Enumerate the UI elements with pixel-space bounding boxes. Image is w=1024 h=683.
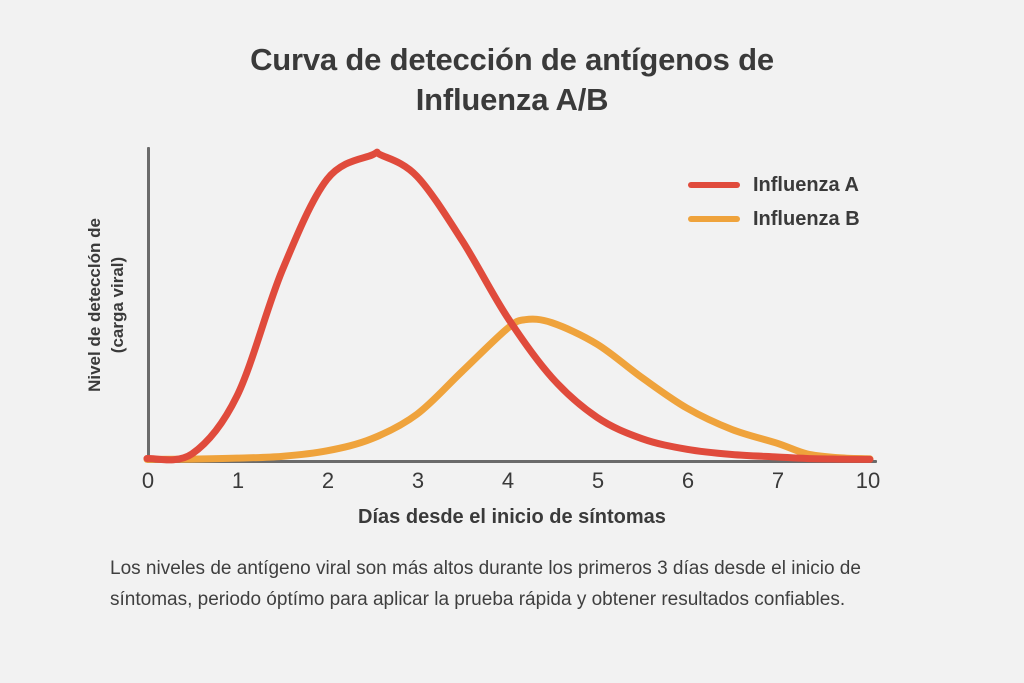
chart-title-line-2: Influenza A/B xyxy=(162,80,862,120)
x-axis-tick-1: 1 xyxy=(218,468,258,494)
y-axis-label-line-1: Nivel de detecclón de xyxy=(84,218,107,392)
x-axis-tick-5: 5 xyxy=(578,468,618,494)
x-axis-tick-3: 3 xyxy=(398,468,438,494)
chart-title-line-1: Curva de detección de antígenos de xyxy=(162,40,862,80)
x-axis-tick-4: 4 xyxy=(488,468,528,494)
x-axis-tick-labels: 0123456710 xyxy=(147,468,877,496)
x-axis-tick-7: 7 xyxy=(758,468,798,494)
chart-plot-curves xyxy=(147,147,877,463)
x-axis-tick-10: 10 xyxy=(848,468,888,494)
x-axis-tick-2: 2 xyxy=(308,468,348,494)
chart-title: Curva de detección de antígenos de Influ… xyxy=(162,40,862,119)
series-line-influenza-a xyxy=(147,152,870,460)
chart-caption: Los niveles de antígeno viral son más al… xyxy=(110,554,900,616)
y-axis-label-line-2: (carga viral) xyxy=(107,218,130,392)
x-axis-tick-6: 6 xyxy=(668,468,708,494)
x-axis-tick-0: 0 xyxy=(128,468,168,494)
x-axis-label: Días desde el inicio de síntomas xyxy=(147,506,877,529)
chart-figure: Curva de detección de antígenos de Influ… xyxy=(0,0,1024,683)
y-axis-label: Nivel de detecclón de (carga viral) xyxy=(74,170,140,440)
